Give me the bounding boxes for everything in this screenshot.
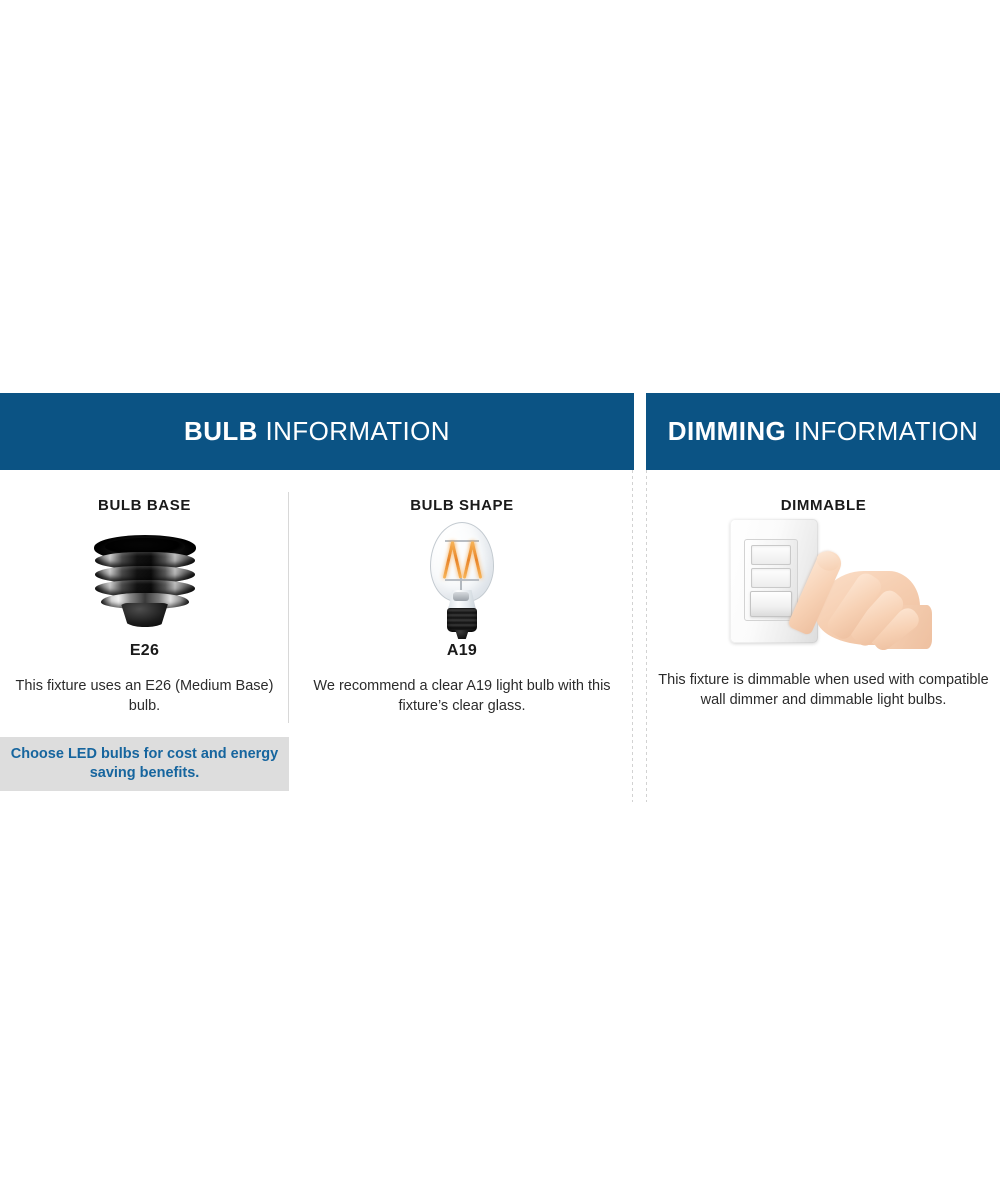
hand-graphic — [770, 545, 920, 645]
dimming-information-header-text: DIMMING INFORMATION — [668, 416, 978, 447]
e26-screw-base-icon — [91, 535, 199, 627]
bulb-header-bold-word: BULB — [184, 416, 258, 446]
dimmable-description: This fixture is dimmable when used with … — [647, 670, 1000, 710]
bulb-information-header-text: BULB INFORMATION — [184, 416, 450, 447]
bulb-shape-code: A19 — [290, 642, 634, 660]
bulb-base-title: BULB BASE — [0, 497, 289, 514]
a19-stem-press — [453, 592, 469, 601]
bulb-shape-art-container — [290, 520, 634, 642]
bulb-header-light-word: INFORMATION — [265, 416, 449, 446]
dimmable-title: DIMMABLE — [647, 497, 1000, 514]
a19-bulb-icon — [426, 522, 498, 640]
bulb-shape-description: We recommend a clear A19 light bulb with… — [290, 676, 634, 716]
bulb-shape-title: BULB SHAPE — [290, 497, 634, 514]
led-savings-callout-text: Choose LED bulbs for cost and energy sav… — [0, 745, 289, 783]
bulb-base-code: E26 — [0, 642, 289, 660]
a19-base-contact-tip — [454, 630, 470, 639]
bulb-base-art-container — [0, 520, 289, 642]
e26-foot-contact — [118, 603, 172, 627]
dimmable-column: DIMMABLE This fixture is dimm — [647, 470, 1000, 710]
bulb-information-header: BULB INFORMATION — [0, 393, 634, 470]
dimming-header-light-word-spacer — [786, 416, 794, 446]
bulb-shape-column: BULB SHAPE A19 We recommend a clear A19 … — [290, 470, 634, 716]
dimming-header-bold-word: DIMMING — [668, 416, 786, 446]
dimming-information-header: DIMMING INFORMATION — [646, 393, 1000, 470]
a19-screw-base — [447, 608, 477, 632]
a19-filament-bottom-bar — [445, 579, 479, 581]
led-savings-callout: Choose LED bulbs for cost and energy sav… — [0, 737, 289, 791]
bulb-and-dimming-info-graphic: BULB INFORMATION DIMMING INFORMATION BUL… — [0, 0, 1000, 1200]
dimming-header-light-word: INFORMATION — [794, 416, 978, 446]
bulb-base-column: BULB BASE E26 This fixture uses an E26 (… — [0, 470, 289, 716]
dimmable-art-container — [647, 520, 1000, 642]
bulb-base-description: This fixture uses an E26 (Medium Base) b… — [0, 676, 289, 716]
wall-dimmer-with-hand-icon — [724, 517, 924, 645]
